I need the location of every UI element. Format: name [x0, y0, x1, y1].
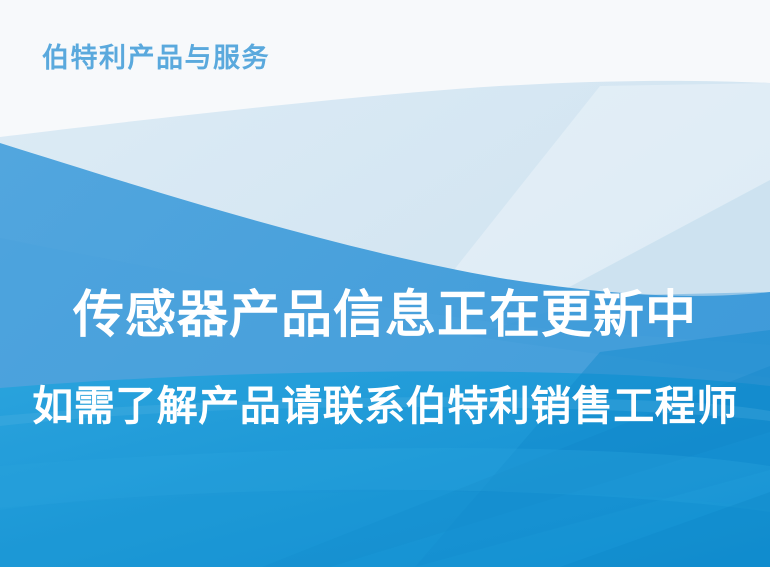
background-artwork: [0, 0, 770, 567]
banner-message: 传感器产品信息正在更新中 如需了解产品请联系伯特利销售工程师: [0, 286, 770, 430]
sub-title: 如需了解产品请联系伯特利销售工程师: [14, 343, 756, 430]
background-base: [0, 0, 770, 567]
header-title: 伯特利产品与服务: [42, 42, 270, 76]
ribbon-sweep-lower-band: [0, 492, 770, 567]
product-service-banner: 伯特利产品与服务 传感器产品信息正在更新中 如需了解产品请联系伯特利销售工程师: [0, 0, 770, 567]
main-title: 传感器产品信息正在更新中: [14, 286, 756, 343]
ribbon-sweep-lower-left: [0, 448, 770, 512]
ribbon-corner-bottom-right: [560, 492, 770, 567]
banner-header: 伯特利产品与服务: [0, 42, 770, 76]
